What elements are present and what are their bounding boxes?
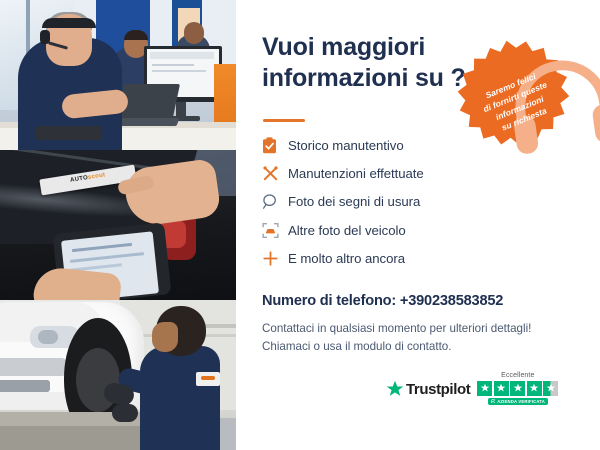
star-filled: [527, 381, 542, 396]
verified-check-icon: [491, 399, 496, 404]
list-item[interactable]: Manutenzioni effettuate: [262, 159, 512, 187]
list-item-label: E molto altro ancora: [288, 251, 405, 266]
photo-column: AUTOscout: [0, 0, 236, 450]
contact-description: Contattaci in qualsiasi momento per ulte…: [262, 320, 562, 356]
call-center-agent-photo: [0, 0, 236, 150]
content-panel: Vuoi maggiori informazioni su ? Saremo f…: [236, 0, 600, 450]
trustpilot-rating-label: Eccellente: [501, 372, 534, 379]
magnifier-icon: [262, 193, 288, 210]
list-item-label: Manutenzioni effettuate: [288, 166, 424, 181]
trustpilot-rating: Eccellente: [477, 372, 558, 405]
star-half: [543, 381, 558, 396]
list-item[interactable]: Storico manutentivo: [262, 131, 512, 159]
list-item[interactable]: E molto altro ancora: [262, 245, 512, 273]
trustpilot-logo: Trustpilot: [386, 372, 470, 398]
trustpilot-widget[interactable]: Trustpilot Eccellente: [386, 372, 558, 405]
list-item-label: Foto dei segni di usura: [288, 194, 420, 209]
list-item[interactable]: Altre foto del veicolo: [262, 216, 512, 244]
mechanic-wheel-inspection-photo: [0, 300, 236, 450]
list-item[interactable]: Foto dei segni di usura: [262, 188, 512, 216]
star-filled: [510, 381, 525, 396]
trustpilot-star-icon: [386, 380, 404, 398]
list-item-label: Altre foto del veicolo: [288, 223, 406, 238]
list-item-label: Storico manutentivo: [288, 138, 404, 153]
contact-description-line2: Chiamaci o usa il modulo di contatto.: [262, 338, 562, 356]
tools-cross-icon: [262, 165, 288, 182]
verified-badge-label: AZIENDA VERIFICATA: [497, 399, 545, 404]
star-filled: [477, 381, 492, 396]
contact-description-line1: Contattaci in qualsiasi momento per ulte…: [262, 320, 562, 338]
star-rating: [477, 381, 558, 396]
trustpilot-name: Trustpilot: [406, 381, 470, 398]
plus-icon: [262, 250, 288, 267]
verified-badge: AZIENDA VERIFICATA: [488, 398, 548, 405]
car-focus-icon: [262, 222, 288, 239]
star-filled: [494, 381, 509, 396]
clipboard-check-icon: [262, 137, 288, 154]
title-divider: [263, 119, 305, 122]
feature-list: Storico manutentivo Manutenzioni effettu…: [262, 131, 512, 273]
promo-banner: AUTOscout Vuoi maggiori informazioni su …: [0, 0, 600, 450]
phone-number[interactable]: Numero di telefono: +390238583852: [262, 293, 503, 309]
car-paint-measurement-photo: AUTOscout: [0, 150, 236, 300]
